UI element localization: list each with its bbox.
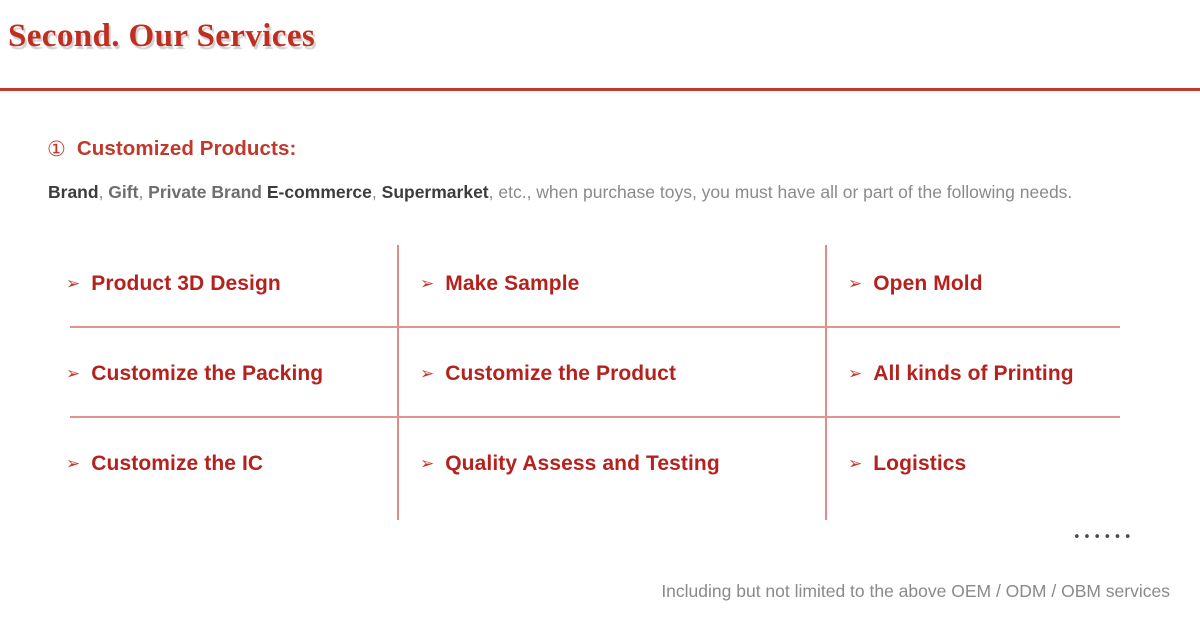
service-item[interactable]: ➢ Customize the Packing (66, 362, 323, 386)
arrow-bullet-icon: ➢ (848, 456, 862, 473)
service-row: ➢ Customize the IC ➢ Quality Assess and … (0, 420, 1200, 510)
service-item[interactable]: ➢ Customize the Product (420, 362, 676, 386)
ellipsis-dots: •••••• (1073, 531, 1134, 544)
arrow-bullet-icon: ➢ (848, 276, 862, 293)
intro-paragraph: Brand, Gift, Private Brand E-commerce, S… (48, 182, 1168, 203)
service-item-label: All kinds of Printing (873, 362, 1073, 386)
service-item[interactable]: ➢ Make Sample (420, 272, 579, 296)
intro-segment: , etc., when purchase toys, you must hav… (489, 182, 1073, 202)
service-item[interactable]: ➢ Open Mold (848, 272, 983, 296)
service-item[interactable]: ➢ Customize the IC (66, 452, 263, 476)
intro-segment: E-commerce (267, 182, 372, 202)
services-grid: ➢ Product 3D Design ➢ Make Sample ➢ Open… (0, 240, 1200, 525)
service-item-label: Open Mold (873, 272, 982, 296)
arrow-bullet-icon: ➢ (848, 366, 862, 383)
service-item[interactable]: ➢ All kinds of Printing (848, 362, 1074, 386)
intro-segment: Supermarket (382, 182, 489, 202)
service-row: ➢ Product 3D Design ➢ Make Sample ➢ Open… (0, 240, 1200, 330)
service-item-label: Customize the IC (91, 452, 263, 476)
service-item[interactable]: ➢ Quality Assess and Testing (420, 452, 720, 476)
intro-segment: Private Brand (148, 182, 262, 202)
service-row: ➢ Customize the Packing ➢ Customize the … (0, 330, 1200, 420)
arrow-bullet-icon: ➢ (420, 366, 434, 383)
footer-note: Including but not limited to the above O… (661, 581, 1170, 602)
section-heading: ① Customized Products: (47, 137, 296, 161)
service-item-label: Customize the Product (445, 362, 676, 386)
service-item-label: Product 3D Design (91, 272, 281, 296)
intro-segment: , (138, 182, 148, 202)
arrow-bullet-icon: ➢ (420, 456, 434, 473)
arrow-bullet-icon: ➢ (420, 276, 434, 293)
page-title: Second. Our Services (8, 18, 315, 55)
service-item-label: Quality Assess and Testing (445, 452, 720, 476)
intro-segment: Brand (48, 182, 99, 202)
slide-header: Second. Our Services (0, 0, 1200, 92)
intro-segment: , (99, 182, 109, 202)
arrow-bullet-icon: ➢ (66, 276, 80, 293)
intro-segment: , (372, 182, 382, 202)
title-divider (0, 88, 1200, 91)
service-item-label: Logistics (873, 452, 966, 476)
service-item-label: Make Sample (445, 272, 579, 296)
arrow-bullet-icon: ➢ (66, 366, 80, 383)
circled-number-icon: ① (47, 139, 66, 160)
section-title: Customized Products: (77, 137, 297, 161)
service-item[interactable]: ➢ Product 3D Design (66, 272, 281, 296)
arrow-bullet-icon: ➢ (66, 456, 80, 473)
service-item[interactable]: ➢ Logistics (848, 452, 966, 476)
service-item-label: Customize the Packing (91, 362, 323, 386)
intro-segment: Gift (108, 182, 138, 202)
